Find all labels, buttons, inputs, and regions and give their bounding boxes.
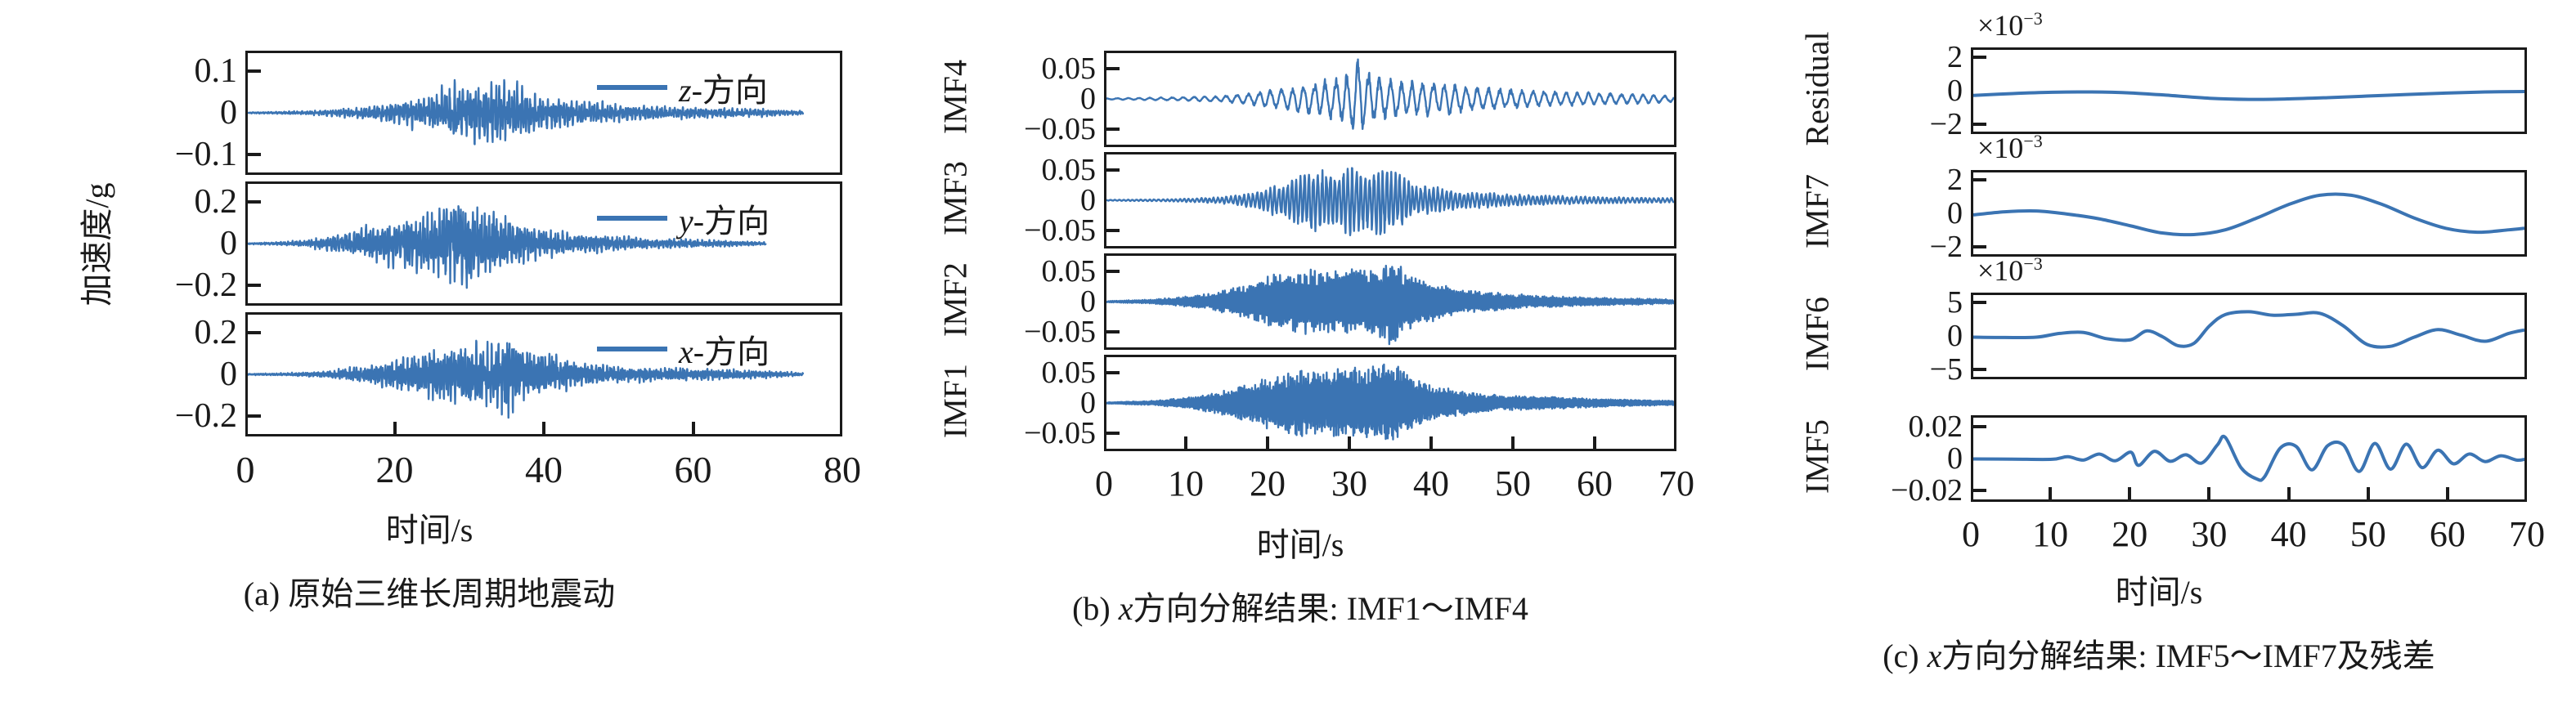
exponent-superscript: −3 [2023,253,2042,274]
y-tick-label: 0 [220,96,237,130]
y-tick-label: 0.1 [195,54,238,88]
panel-a: 加速度/g 0.10−0.1z-方向0.20−0.2y-方向0.20−0.2x-… [0,0,859,725]
y-tick-mark [248,331,261,334]
x-tick-label: 60 [675,451,712,489]
x-tick-mark [692,422,695,434]
panel-a-axes-stack: 0.10−0.1z-方向0.20−0.2y-方向0.20−0.2x-方向0204… [0,0,859,725]
x-tick-mark [1266,436,1269,449]
data-line [1973,194,2524,235]
panel-b-caption: (b) x方向分解结果: IMF1～IMF4 [859,582,1742,629]
panel-c-subplot-IMF6 [1971,293,2527,379]
plot-canvas [1973,295,2524,377]
data-line [1106,365,1674,440]
panel-b-subplot-IMF4 [1104,51,1676,147]
data-line [1973,92,2524,100]
x-tick-label: 60 [1577,466,1613,502]
panel-b-subplot-IMF2 [1104,253,1676,350]
plot-canvas [1106,154,1674,246]
y-tick-label: −0.1 [175,137,237,172]
axis-exponent: ×10−3 [1977,131,2043,165]
y-tick-mark [1973,368,1986,371]
y-tick-mark [248,69,261,73]
legend-axis-symbol: x [679,333,693,370]
panel-b-xlabel: 时间/s [859,518,1742,566]
panel-c: 20−2Residual×10−320−2IMF7×10−350−5IMF6×1… [1742,0,2576,725]
y-tick: −0.05 [973,409,1096,458]
x-tick-mark [2128,487,2131,499]
x-tick-mark [393,422,397,434]
legend-axis-symbol: y [679,203,693,239]
x-tick-mark [1184,436,1187,449]
x-tick-label: 30 [2191,517,2227,553]
y-tick-mark [1106,330,1120,333]
x-tick-label: 50 [2350,517,2386,553]
caption-axis-symbol: x [1119,590,1133,627]
x-tick-mark [1593,436,1596,449]
y-tick: −0.1 [114,130,237,179]
y-tick-label: −2 [1930,109,1963,140]
exponent-superscript: −3 [2023,8,2042,29]
legend-line-swatch [597,347,667,351]
caption-axis-symbol: x [1928,638,1942,674]
panel-b: 0.050−0.05IMF40.050−0.05IMF30.050−0.05IM… [859,0,1742,725]
y-tick-mark [248,153,261,156]
panel-c-subplot-IMF5 [1971,415,2527,502]
y-tick-label: −0.05 [1024,316,1096,347]
x-tick-label: 10 [1168,466,1204,502]
legend-line-swatch [597,85,667,90]
plot-canvas [1106,357,1674,449]
plot-canvas [1106,256,1674,347]
plot-canvas [1973,172,2524,254]
x-tick-label: 0 [1095,466,1113,502]
x-tick-label: 20 [376,451,414,489]
y-tick-label: 0 [220,357,237,392]
y-tick-label: −0.05 [1024,215,1096,246]
y-tick-mark [1973,301,1986,304]
data-line [1973,311,2524,347]
y-tick-mark [1973,123,1986,126]
y-tick-label: 0 [220,226,237,261]
y-tick: −2 [1840,222,1963,271]
data-line [1973,436,2524,481]
y-tick-mark [248,414,261,418]
y-tick-mark [1106,432,1120,435]
x-tick-label: 60 [2430,517,2466,553]
panel-c-subplot-Residual [1971,47,2527,134]
x-tick-mark [542,422,545,434]
panel-c-caption: (c) x方向分解结果: IMF5～IMF7及残差 [1742,629,2576,677]
legend-z: z-方向 [597,64,768,111]
y-tick-mark [1106,371,1120,374]
panel-c-axes-stack: 20−2Residual×10−320−2IMF7×10−350−5IMF6×1… [1742,0,2576,725]
x-tick-label: 70 [2509,517,2545,553]
y-tick-label: −2 [1930,231,1963,262]
legend-x: x-方向 [597,325,770,373]
y-tick-mark [1973,489,1986,492]
x-tick-label: 20 [1250,466,1286,502]
x-tick-label: 50 [1495,466,1531,502]
x-tick-mark [2446,487,2449,499]
plot-canvas [1973,50,2524,132]
axis-exponent: ×10−3 [1977,8,2043,43]
y-tick-mark [1973,178,1986,181]
y-tick: −2 [1840,100,1963,149]
legend-label: y-方向 [679,195,770,242]
y-tick-mark [1106,128,1120,131]
x-tick-mark [1348,436,1351,449]
panel-b-subplot-IMF1 [1104,355,1676,451]
panel-a-xlabel: 时间/s [0,503,859,551]
plot-canvas [1106,53,1674,145]
y-tick-mark [1973,425,1986,428]
figure-root: 加速度/g 0.10−0.1z-方向0.20−0.2y-方向0.20−0.2x-… [0,0,2576,725]
x-tick-mark [2287,487,2291,499]
y-axis-title-IMF1: IMF1 [936,304,975,499]
plot-canvas [1973,418,2524,499]
x-tick-label: 30 [1331,466,1367,502]
x-tick-mark [2207,487,2210,499]
legend-label: z-方向 [679,64,768,111]
y-tick-mark [248,284,261,287]
axis-exponent: ×10−3 [1977,253,2043,288]
legend-label: x-方向 [679,325,770,373]
x-tick-label: 0 [1962,517,1980,553]
legend-axis-symbol: z [679,72,692,109]
x-tick-label: 0 [236,451,255,489]
y-tick: −0.02 [1840,466,1963,515]
x-tick-mark [2367,487,2370,499]
y-axis-title-IMF5: IMF5 [1798,365,1837,549]
x-tick-label: 20 [2112,517,2147,553]
x-tick-label: 40 [1413,466,1449,502]
y-tick-label: 0.2 [195,316,238,350]
x-tick-label: 10 [2032,517,2068,553]
y-tick-mark [1973,56,1986,59]
panel-b-subplot-IMF3 [1104,152,1676,248]
y-tick-mark [1973,245,1986,248]
x-tick-mark [1511,436,1515,449]
y-tick-label: −5 [1930,354,1963,385]
y-tick: −0.2 [114,261,237,310]
exponent-superscript: −3 [2023,131,2042,151]
y-tick-label: −0.05 [1024,114,1096,145]
y-tick-mark [1106,270,1120,273]
y-tick-label: −0.02 [1891,475,1963,506]
panel-c-subplot-IMF7 [1971,170,2527,257]
panel-a-caption: (a) 原始三维长周期地震动 [0,567,859,615]
x-tick-mark [1429,436,1433,449]
x-tick-label: 70 [1658,466,1694,502]
y-tick-label: −0.2 [175,399,237,433]
y-tick: −0.2 [114,392,237,441]
panel-c-xlabel: 时间/s [1742,566,2576,613]
legend-line-swatch [597,216,667,221]
x-tick-label: 40 [525,451,563,489]
x-tick-label: 80 [824,451,861,489]
data-line [1106,168,1674,235]
y-tick-mark [1106,168,1120,172]
data-line [1106,266,1674,344]
y-tick: −5 [1840,345,1963,394]
x-tick-label: 40 [2271,517,2307,553]
y-tick-mark [1106,67,1120,70]
y-tick-label: −0.05 [1024,418,1096,449]
x-tick-mark [2049,487,2052,499]
data-line [1106,60,1674,129]
y-tick-mark [248,200,261,204]
y-tick-label: 0.2 [195,185,238,219]
y-tick-label: −0.2 [175,268,237,302]
legend-y: y-方向 [597,195,770,242]
y-tick-mark [1106,229,1120,232]
